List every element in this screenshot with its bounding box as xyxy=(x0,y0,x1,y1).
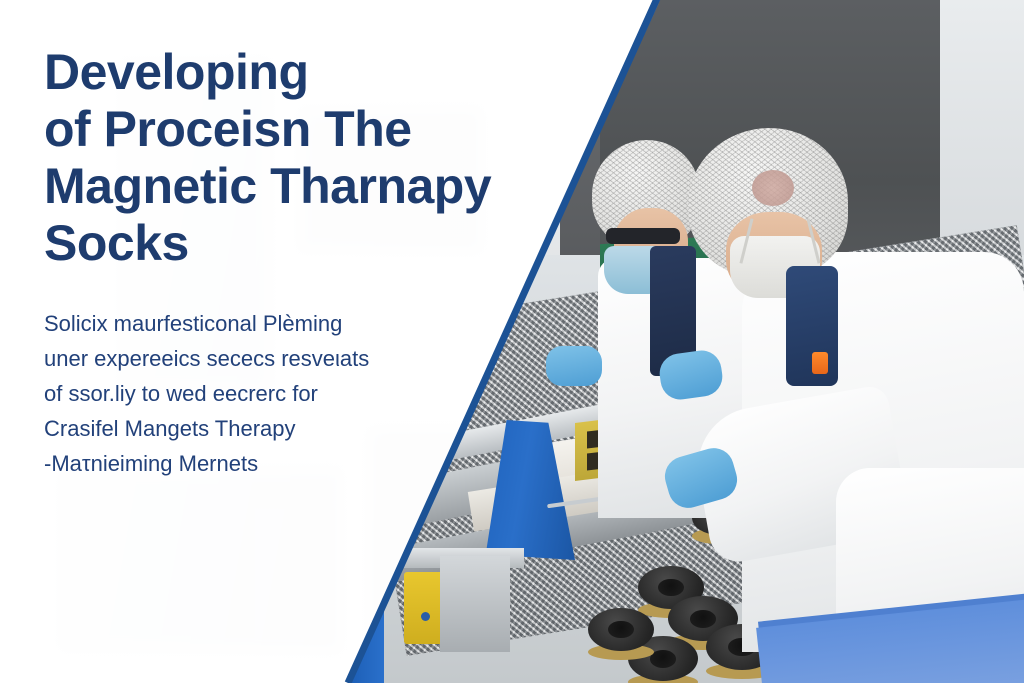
headline-line-1: Developing xyxy=(44,44,564,101)
headline-line-4: Socks xyxy=(44,215,564,272)
orange-badge xyxy=(812,352,828,374)
body-line-4: Crasifel Mangets Therapy xyxy=(44,411,564,446)
steel-bracket xyxy=(440,556,510,652)
body-line-3: of ssor.liy to wed eecrerc for xyxy=(44,376,564,411)
safety-glasses xyxy=(606,228,680,244)
text-content: Developing of Proceisn The Magnetic Thar… xyxy=(44,44,564,481)
body-copy: Solicix maurfesticonal Plèming uner expe… xyxy=(44,272,564,481)
page-title: Developing of Proceisn The Magnetic Thar… xyxy=(44,44,564,272)
magnetic-therapy-banner: Developing of Proceisn The Magnetic Thar… xyxy=(0,0,1024,683)
ring-magnet xyxy=(588,608,654,651)
body-line-2: uner expereeics sececs resveιats xyxy=(44,341,564,376)
body-line-5: -Maτnieiming Mernets xyxy=(44,446,564,481)
headline-line-3: Magnetic Tharnapy xyxy=(44,158,564,215)
headline-line-2: of Proceisn The xyxy=(44,101,564,158)
body-line-1: Solicix maurfesticonal Plèming xyxy=(44,306,564,341)
